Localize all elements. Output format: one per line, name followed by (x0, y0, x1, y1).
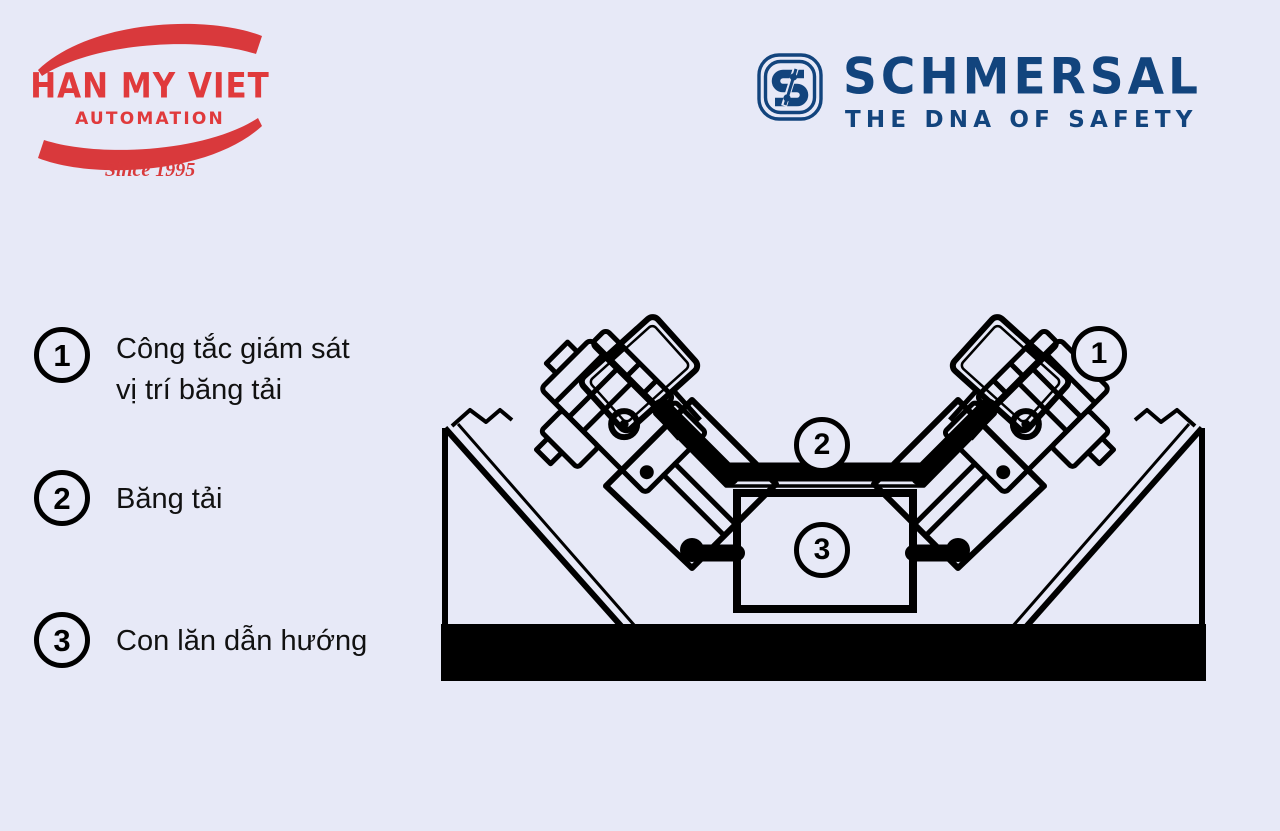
conveyor-diagram: 1 2 3 (430, 300, 1220, 700)
schmersal-tagline-text: THE DNA OF SAFETY (845, 107, 1198, 133)
legend-number-badge-1: 1 (34, 327, 90, 383)
diagram-callout-1: 1 (1071, 326, 1127, 382)
legend-number-badge-2: 2 (34, 470, 90, 526)
legend-label-2: Băng tải (116, 470, 222, 520)
diagram-callout-2: 2 (794, 417, 850, 473)
diagram-callout-3: 3 (794, 522, 850, 578)
black-base-bar (443, 626, 1204, 679)
page-header: HAN MY VIET AUTOMATION Since 1995 SCHMER… (0, 0, 1280, 200)
schmersal-s-monogram-icon (755, 52, 825, 122)
han-my-viet-logo: HAN MY VIET AUTOMATION Since 1995 (30, 14, 270, 184)
legend-label-3: Con lăn dẫn hướng (116, 612, 367, 662)
legend-number-badge-3: 3 (34, 612, 90, 668)
legend-item-1: 1 Công tắc giám sát vị trí băng tải (34, 327, 350, 411)
schmersal-logo: SCHMERSAL THE DNA OF SAFETY (755, 50, 1215, 150)
legend-item-2: 2 Băng tải (34, 470, 222, 526)
logo-subtitle: AUTOMATION (30, 109, 270, 129)
logo-since-text: Since 1995 (30, 159, 270, 182)
logo-company-name: HAN MY VIET (30, 66, 270, 106)
legend-label-1: Công tắc giám sát vị trí băng tải (116, 327, 350, 411)
legend-item-3: 3 Con lăn dẫn hướng (34, 612, 367, 668)
schmersal-brand-text: SCHMERSAL (843, 48, 1202, 106)
